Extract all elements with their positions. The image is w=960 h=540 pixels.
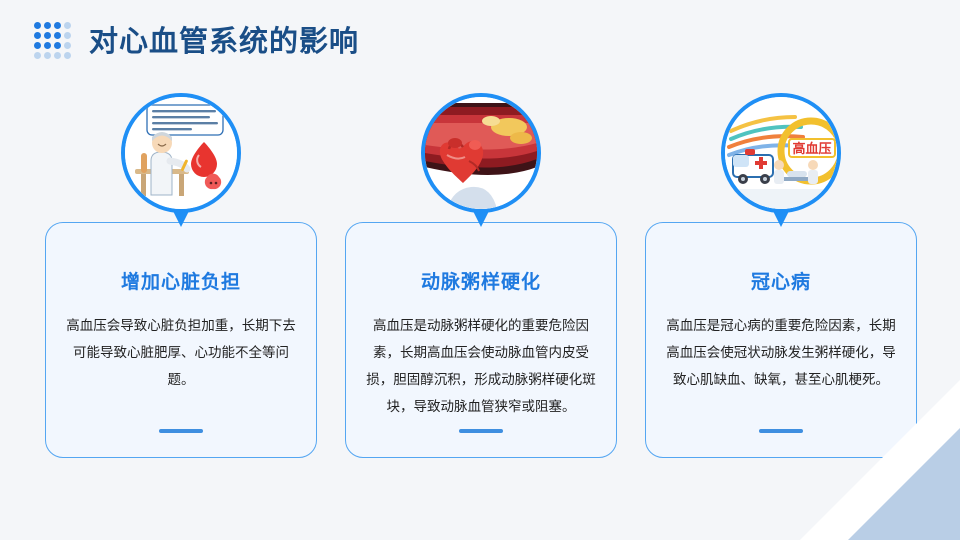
ambulance-emergency-icon: 高血压	[721, 93, 841, 213]
corner-decoration-blue	[848, 428, 960, 540]
svg-text:高血压: 高血压	[792, 141, 831, 156]
pin-marker-2	[421, 93, 541, 239]
card-underline	[459, 429, 503, 433]
card-body: 高血压是动脉粥样硬化的重要危险因素，长期高血压会使动脉血管内皮受损，胆固醇沉积，…	[366, 312, 596, 420]
artery-plaque-icon	[421, 93, 541, 213]
dot-grid-icon	[34, 22, 71, 59]
card-underline	[159, 429, 203, 433]
card-underline	[759, 429, 803, 433]
card-body: 高血压会导致心脏负担加重，长期下去可能导致心脏肥厚、心功能不全等问题。	[66, 312, 296, 393]
card-increase-heart-burden[interactable]: 增加心脏负担 高血压会导致心脏负担加重，长期下去可能导致心脏肥厚、心功能不全等问…	[45, 222, 317, 458]
card-atherosclerosis[interactable]: 动脉粥样硬化 高血压是动脉粥样硬化的重要危险因素，长期高血压会使动脉血管内皮受损…	[345, 222, 617, 458]
card-row: 增加心脏负担 高血压会导致心脏负担加重，长期下去可能导致心脏肥厚、心功能不全等问…	[45, 222, 917, 458]
page-title: 对心血管系统的影响	[89, 18, 359, 60]
doctor-blood-pressure-icon	[121, 93, 241, 213]
card-title: 动脉粥样硬化	[366, 267, 596, 294]
pin-marker-1	[121, 93, 241, 239]
slide: 对心血管系统的影响	[0, 0, 960, 540]
card-title: 冠心病	[666, 267, 896, 294]
pin-marker-3: 高血压	[721, 93, 841, 239]
slide-header: 对心血管系统的影响	[34, 18, 359, 60]
card-title: 增加心脏负担	[66, 267, 296, 294]
